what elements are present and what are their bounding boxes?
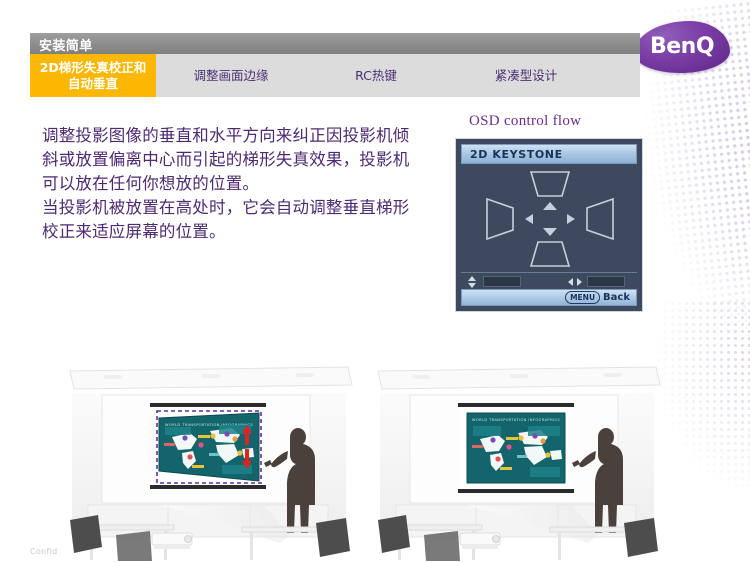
osd-panel-header: 2D KEYSTONE bbox=[461, 144, 637, 164]
updown-arrows-icon bbox=[465, 275, 479, 289]
keystone-right-trapezoid-icon bbox=[587, 199, 613, 239]
benq-logo: BenQ bbox=[634, 21, 730, 73]
osd-status-bar: MENU Back bbox=[461, 289, 637, 306]
screen-top-bar bbox=[458, 403, 574, 407]
slide-canvas: BenQ 安装简单 2D梯形失真校正和 自动垂直 调整画面边缘 RC热键 紧凑型… bbox=[0, 0, 750, 563]
arrow-up-icon bbox=[543, 202, 557, 210]
osd-panel: 2D KEYSTONE bbox=[455, 138, 643, 312]
screen-bottom-bar bbox=[150, 485, 266, 489]
keystone-top-trapezoid-icon bbox=[531, 172, 569, 196]
room-keystone-corrected: WORLD TRANSPORTATION INFOGRAPHICS bbox=[372, 365, 662, 561]
chair-left bbox=[70, 515, 102, 553]
tab-2d-keystone[interactable]: 2D梯形失真校正和 自动垂直 bbox=[30, 54, 156, 97]
osd-vertical-value-field[interactable] bbox=[483, 276, 521, 287]
tab-rc-hotkey[interactable]: RC热键 bbox=[306, 54, 446, 97]
chair-right bbox=[624, 518, 658, 557]
screen-bottom-bar bbox=[458, 489, 574, 493]
keystone-left-trapezoid-icon bbox=[487, 199, 513, 239]
page-title: 安装简单 bbox=[39, 35, 93, 54]
tab-edge-adjust-label: 调整画面边缘 bbox=[193, 68, 268, 84]
tab-2d-keystone-line2: 自动垂直 bbox=[40, 76, 147, 92]
menu-button[interactable]: MENU bbox=[565, 291, 600, 304]
tab-compact-design-label: 紧凑型设计 bbox=[495, 68, 558, 84]
room-illustration-distorted-svg: WORLD TRANSPORTATION INFOGRAPHICS bbox=[64, 365, 354, 561]
osd-flow-title: OSD control flow bbox=[469, 113, 581, 130]
chair-right bbox=[316, 518, 350, 557]
projector-device bbox=[460, 533, 500, 549]
projector-device bbox=[152, 533, 192, 549]
tab-strip: 2D梯形失真校正和 自动垂直 调整画面边缘 RC热键 紧凑型设计 bbox=[30, 54, 640, 97]
tab-rc-hotkey-label: RC热键 bbox=[355, 68, 397, 84]
body-copy: 调整投影图像的垂直和水平方向来纠正因投影机倾斜或放置偏离中心而引起的梯形失真效果… bbox=[42, 124, 422, 244]
keystone-bottom-trapezoid-icon bbox=[531, 242, 569, 266]
osd-horizontal-value-field[interactable] bbox=[587, 276, 625, 287]
tab-compact-design[interactable]: 紧凑型设计 bbox=[446, 54, 606, 97]
projected-image-distorted: WORLD TRANSPORTATION INFOGRAPHICS bbox=[159, 413, 259, 481]
osd-panel-header-label: 2D KEYSTONE bbox=[470, 148, 563, 161]
keystone-direction-svg bbox=[461, 166, 639, 272]
osd-keystone-graphic bbox=[461, 166, 637, 272]
room-illustration-corrected-svg: WORLD TRANSPORTATION INFOGRAPHICS bbox=[372, 365, 662, 561]
screen-title-text: WORLD TRANSPORTATION INFOGRAPHICS bbox=[472, 418, 560, 422]
section-header-bar: 安装简单 bbox=[30, 33, 640, 54]
confidential-mark: Confid bbox=[30, 547, 57, 556]
arrow-left-icon bbox=[525, 214, 533, 224]
back-label[interactable]: Back bbox=[603, 292, 630, 303]
screen-top-bar bbox=[150, 403, 266, 407]
arrow-down-icon bbox=[543, 228, 557, 236]
tab-edge-adjust[interactable]: 调整画面边缘 bbox=[156, 54, 306, 97]
room-keystone-distorted: WORLD TRANSPORTATION INFOGRAPHICS bbox=[64, 365, 354, 561]
arrow-right-icon bbox=[567, 214, 575, 224]
osd-value-row bbox=[461, 272, 637, 290]
tab-2d-keystone-line1: 2D梯形失真校正和 bbox=[40, 60, 147, 76]
body-paragraph-1: 调整投影图像的垂直和水平方向来纠正因投影机倾斜或放置偏离中心而引起的梯形失真效果… bbox=[42, 124, 422, 196]
leftright-arrows-icon bbox=[567, 276, 583, 288]
benq-logo-text: BenQ bbox=[634, 34, 730, 59]
projected-image-corrected: WORLD TRANSPORTATION INFOGRAPHICS bbox=[467, 413, 565, 483]
body-paragraph-2: 当投影机被放置在高处时，它会自动调整垂直梯形校正来适应屏幕的位置。 bbox=[42, 196, 422, 244]
chair-left bbox=[378, 515, 410, 553]
